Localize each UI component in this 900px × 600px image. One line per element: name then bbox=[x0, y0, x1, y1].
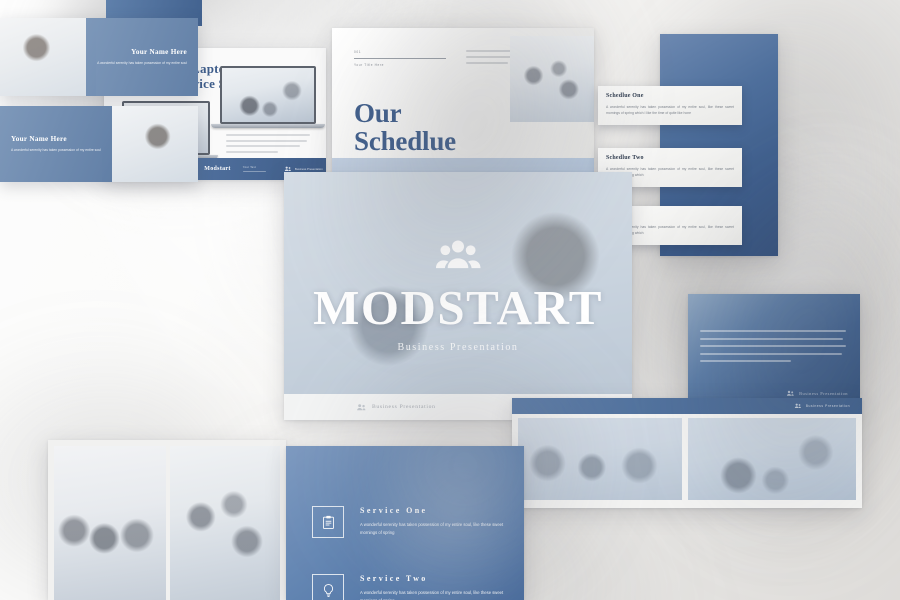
lightbulb-icon bbox=[321, 583, 336, 598]
slide-services[interactable]: Service One A wonderful serenity has tak… bbox=[286, 446, 524, 600]
footer-brand-label: Modstart bbox=[198, 166, 237, 172]
footer-logo-text: Business Presentation bbox=[295, 167, 323, 171]
people-group-icon bbox=[356, 402, 367, 413]
team-photo bbox=[102, 106, 198, 182]
photo-cell bbox=[170, 446, 280, 600]
text-slide-footer: Business Presentation bbox=[786, 389, 848, 398]
card-title: Schedlue One bbox=[606, 93, 734, 99]
service-icon-frame bbox=[312, 506, 344, 538]
schedule-meta-block: 001 Your Title Here bbox=[354, 50, 446, 67]
slide-our-schedule[interactable]: 001 Your Title Here Our Schedlue bbox=[332, 28, 594, 180]
slide-photo-pair[interactable] bbox=[48, 440, 286, 600]
service-item[interactable]: Service One A wonderful serenity has tak… bbox=[312, 506, 506, 538]
grid-header-bar: Business Presentation bbox=[512, 398, 862, 414]
hero-content: MODSTART Business Presentation bbox=[284, 172, 632, 420]
presentation-mockup-canvas: Laptop Device Slide 01 bbox=[0, 0, 900, 600]
grid-photo-cell bbox=[688, 418, 856, 500]
text-slide-paragraph-lines: A wonderful serenity has taken possessio… bbox=[700, 330, 846, 368]
schedule-heading: Our Schedlue bbox=[354, 100, 456, 156]
schedule-photo bbox=[510, 36, 594, 122]
team-card[interactable]: Your Name Here A wonderful serenity has … bbox=[0, 106, 198, 182]
laptop-body-text-lines bbox=[226, 134, 310, 156]
photo-cell bbox=[54, 446, 166, 600]
card-title: Schedlue Two bbox=[606, 155, 734, 161]
schedule-heading-line1: Our bbox=[354, 100, 456, 128]
service-icon-frame bbox=[312, 574, 344, 600]
card-body: A wonderful serenity has taken possessio… bbox=[606, 104, 734, 117]
slide-hero-title[interactable]: MODSTART Business Presentation Business … bbox=[284, 172, 632, 420]
schedule-heading-line2: Schedlue bbox=[354, 128, 456, 156]
slide-body-text[interactable]: A wonderful serenity has taken possessio… bbox=[688, 294, 860, 406]
service-title: Service Two bbox=[360, 574, 506, 583]
slide-team-members[interactable]: Your Name Here A wonderful serenity has … bbox=[0, 0, 198, 182]
schedule-divider bbox=[354, 58, 446, 59]
service-body: A wonderful serenity has taken possessio… bbox=[360, 521, 506, 537]
laptop-screen-front bbox=[220, 66, 316, 124]
team-overlay: Your Name Here A wonderful serenity has … bbox=[86, 18, 198, 96]
laptop-mockup-front bbox=[220, 66, 316, 128]
slide-photo-grid[interactable]: Business Presentation bbox=[512, 398, 862, 508]
people-group-icon bbox=[435, 239, 481, 269]
clipboard-icon bbox=[321, 515, 336, 530]
team-photo bbox=[0, 18, 96, 96]
team-overlay: Your Name Here A wonderful serenity has … bbox=[0, 106, 112, 182]
service-text: Service One A wonderful serenity has tak… bbox=[360, 506, 506, 537]
hero-footer-text: Business Presentation bbox=[372, 404, 436, 410]
team-member-name: Your Name Here bbox=[11, 135, 67, 143]
people-group-icon bbox=[794, 402, 802, 410]
people-group-icon bbox=[786, 389, 795, 398]
hero-title: MODSTART bbox=[313, 283, 603, 332]
text-slide-footer-text: Business Presentation bbox=[799, 391, 848, 396]
schedule-meta-label: Your Title Here bbox=[354, 63, 446, 67]
hero-subtitle: Business Presentation bbox=[397, 342, 518, 353]
team-member-bio: A wonderful serenity has taken possessio… bbox=[97, 61, 187, 67]
team-member-name: Your Name Here bbox=[131, 48, 187, 56]
grid-photo-cell bbox=[518, 418, 682, 500]
laptop-screen-photo-meeting bbox=[222, 68, 314, 122]
service-text: Service Two A wonderful serenity has tak… bbox=[360, 574, 506, 600]
service-title: Service One bbox=[360, 506, 506, 515]
grid-header-text: Business Presentation bbox=[806, 404, 850, 408]
team-card[interactable]: Your Name Here A wonderful serenity has … bbox=[0, 18, 198, 96]
schedule-card[interactable]: Schedlue One A wonderful serenity has ta… bbox=[598, 86, 742, 125]
footer-cell-4: Your Text bbox=[237, 166, 284, 173]
team-member-bio: A wonderful serenity has taken possessio… bbox=[11, 148, 101, 154]
service-body: A wonderful serenity has taken possessio… bbox=[360, 589, 506, 600]
schedule-meta-number: 001 bbox=[354, 50, 446, 54]
service-item[interactable]: Service Two A wonderful serenity has tak… bbox=[312, 574, 506, 600]
laptop-base-front bbox=[211, 124, 324, 128]
